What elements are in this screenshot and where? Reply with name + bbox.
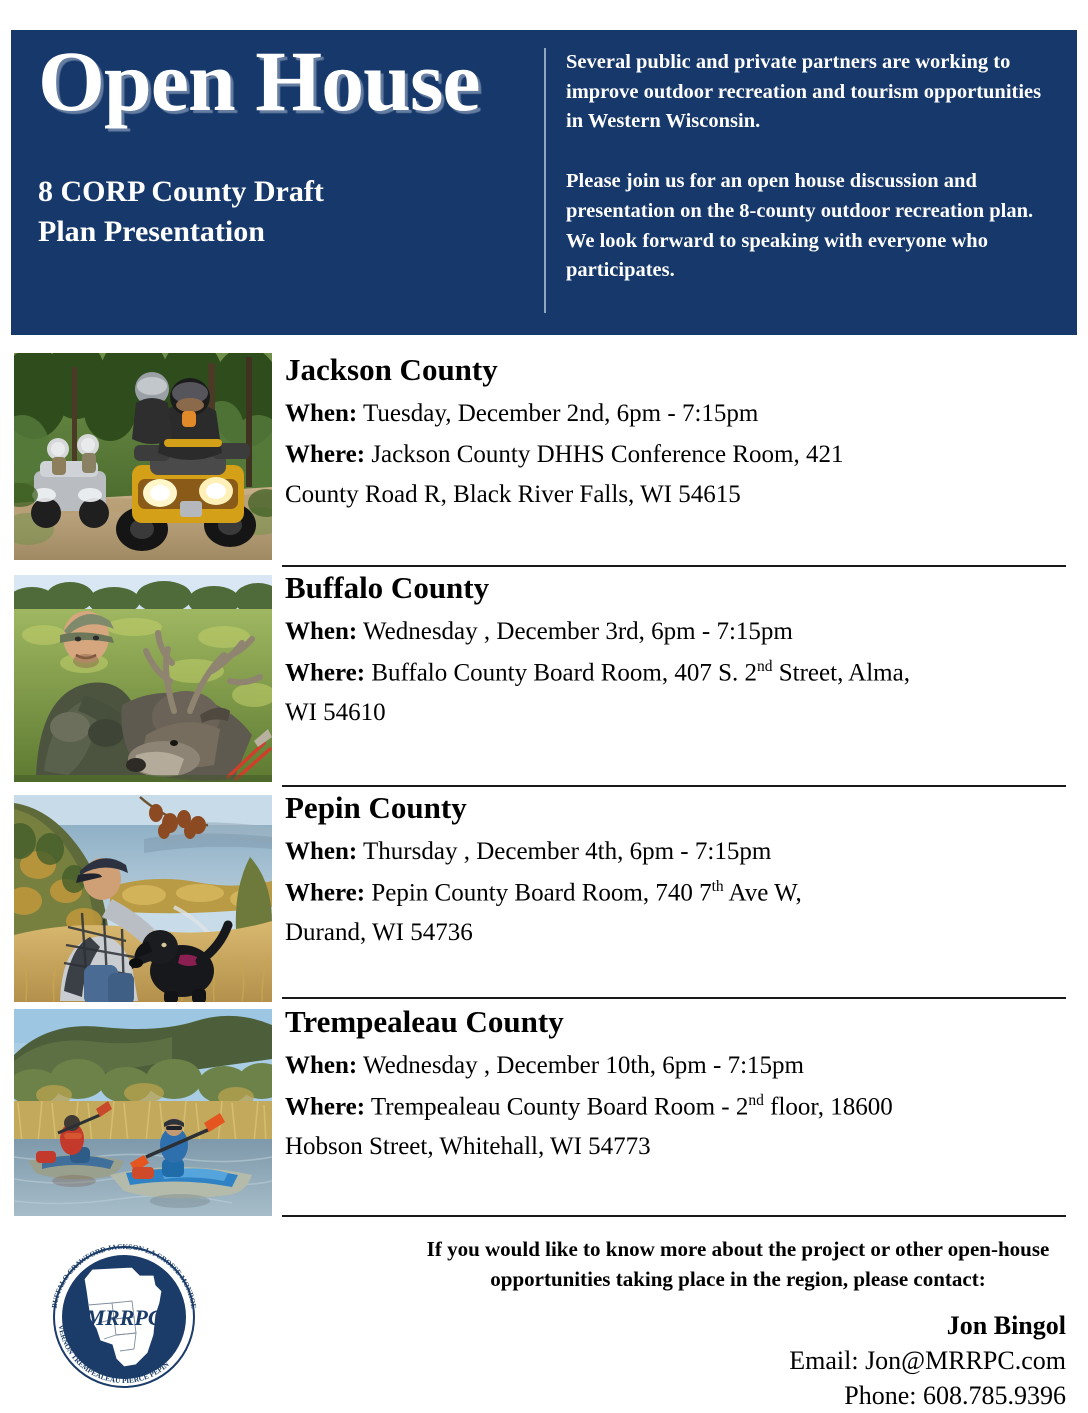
section-divider — [282, 997, 1066, 999]
where-ordinal-suffix: th — [712, 878, 724, 895]
event-when-line: When: Wednesday , December 3rd, 6pm - 7:… — [285, 615, 1066, 650]
when-value: Thursday , December 4th, 6pm - 7:15pm — [357, 838, 771, 865]
where-value-line-1-tail: Ave W, — [724, 879, 802, 906]
event-where-line-2: Hobson Street, Whitehall, WI 54773 — [285, 1130, 1066, 1165]
event-county-name: Buffalo County — [285, 571, 1066, 605]
event-where-line: Where: Trempealeau County Board Room - 2… — [285, 1090, 1066, 1125]
header-right-column: Several public and private partners are … — [546, 30, 1077, 335]
where-value-line-1: Pepin County Board Room, 740 7 — [365, 879, 712, 906]
where-value-line-1-tail: floor, 18600 — [764, 1093, 893, 1120]
section-divider — [282, 785, 1066, 787]
event-row: Trempealeau County When: Wednesday , Dec… — [0, 1001, 1088, 1217]
when-value: Wednesday , December 10th, 6pm - 7:15pm — [357, 1052, 804, 1079]
where-label: Where: — [285, 1093, 365, 1120]
where-value-line-1: Buffalo County Board Room, 407 S. 2 — [365, 659, 757, 686]
footer-intro-text: If you would like to know more about the… — [300, 1235, 1066, 1295]
event-county-name: Pepin County — [285, 791, 1066, 825]
event-where-line-2: WI 54610 — [285, 696, 1066, 731]
header-paragraph-1: Several public and private partners are … — [566, 48, 1055, 137]
page-subtitle-line-2: Plan Presentation — [38, 212, 544, 253]
svg-text:MRRPC: MRRPC — [84, 1305, 162, 1330]
event-when-line: When: Wednesday , December 10th, 6pm - 7… — [285, 1049, 1066, 1084]
page-title: Open House — [38, 38, 544, 126]
where-value-line-1: Jackson County DHHS Conference Room, 421 — [365, 441, 843, 468]
event-details: Pepin County When: Thursday , December 4… — [285, 791, 1066, 957]
event-row: Jackson County When: Tuesday, December 2… — [0, 353, 1088, 569]
event-when-line: When: Thursday , December 4th, 6pm - 7:1… — [285, 835, 1066, 870]
event-when-line: When: Tuesday, December 2nd, 6pm - 7:15p… — [285, 397, 1066, 432]
footer-divider — [282, 1215, 1066, 1217]
event-where-line-2: Durand, WI 54736 — [285, 916, 1066, 951]
header-banner: Open House 8 CORP County Draft Plan Pres… — [11, 30, 1077, 335]
atv-riders-forest-trail-photo — [14, 353, 272, 560]
event-where-line: Where: Pepin County Board Room, 740 7th … — [285, 876, 1066, 911]
deer-hunter-field-photo — [14, 575, 272, 782]
page-subtitle-line-1: 8 CORP County Draft — [38, 172, 544, 213]
event-details: Trempealeau County When: Wednesday , Dec… — [285, 1005, 1066, 1171]
when-value: Wednesday , December 3rd, 6pm - 7:15pm — [357, 618, 793, 645]
where-label: Where: — [285, 879, 365, 906]
footer: MRRPC BUFFALO CRAWFORD JACKSON LA CROSSE… — [0, 1207, 1088, 1408]
where-ordinal-suffix: nd — [748, 1092, 764, 1109]
contact-email: Email: Jon@MRRPC.com — [300, 1344, 1066, 1378]
header-left-column: Open House 8 CORP County Draft Plan Pres… — [11, 30, 544, 335]
header-paragraph-2: Please join us for an open house discuss… — [566, 167, 1055, 286]
when-label: When: — [285, 1052, 357, 1079]
event-details: Jackson County When: Tuesday, December 2… — [285, 353, 1066, 519]
when-label: When: — [285, 400, 357, 427]
where-value-line-1-tail: Street, Alma, — [773, 659, 910, 686]
footer-contact-block: If you would like to know more about the… — [300, 1235, 1066, 1413]
kayakers-river-marsh-photo — [14, 1009, 272, 1216]
when-label: When: — [285, 618, 357, 645]
man-with-dog-bluff-overlook-photo — [14, 795, 272, 1002]
when-value: Tuesday, December 2nd, 6pm - 7:15pm — [357, 400, 758, 427]
where-value-line-1: Trempealeau County Board Room - 2 — [365, 1093, 748, 1120]
event-where-line: Where: Buffalo County Board Room, 407 S.… — [285, 656, 1066, 691]
where-ordinal-suffix: nd — [757, 658, 773, 675]
contact-name: Jon Bingol — [300, 1309, 1066, 1343]
event-row: Pepin County When: Thursday , December 4… — [0, 789, 1088, 1001]
event-where-line: Where: Jackson County DHHS Conference Ro… — [285, 438, 1066, 473]
page-subtitle: 8 CORP County Draft Plan Presentation — [38, 172, 544, 253]
where-label: Where: — [285, 441, 365, 468]
event-county-name: Jackson County — [285, 353, 1066, 387]
event-county-name: Trempealeau County — [285, 1005, 1066, 1039]
event-row: Buffalo County When: Wednesday , Decembe… — [0, 569, 1088, 789]
event-where-line-2: County Road R, Black River Falls, WI 546… — [285, 478, 1066, 513]
when-label: When: — [285, 838, 357, 865]
section-divider — [282, 565, 1066, 567]
where-label: Where: — [285, 659, 365, 686]
event-details: Buffalo County When: Wednesday , Decembe… — [285, 571, 1066, 737]
mrrpc-logo: MRRPC BUFFALO CRAWFORD JACKSON LA CROSSE… — [36, 1241, 212, 1393]
event-list: Jackson County When: Tuesday, December 2… — [0, 353, 1088, 1217]
